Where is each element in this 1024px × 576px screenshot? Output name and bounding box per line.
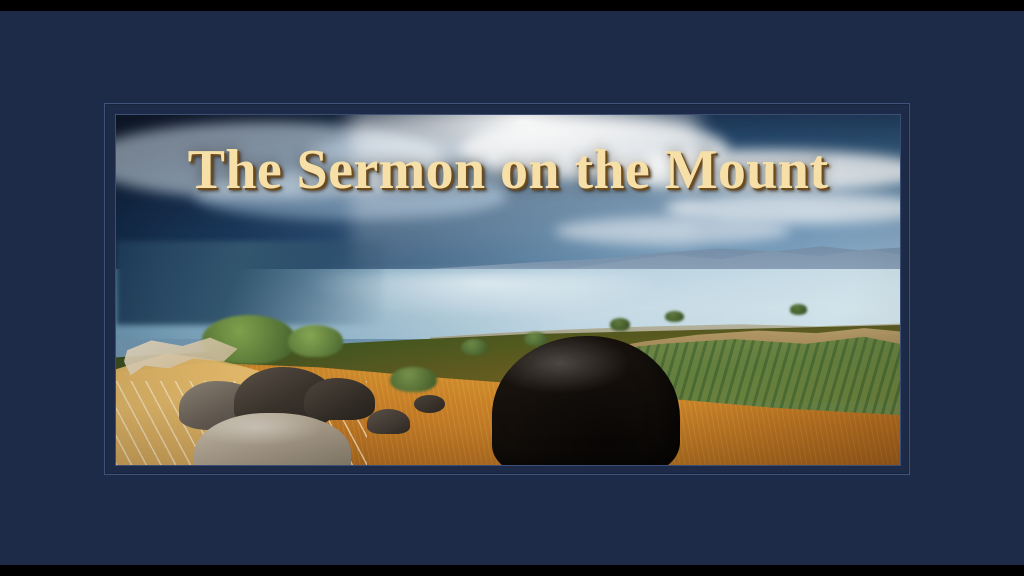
boulder	[367, 409, 410, 434]
boulder	[414, 395, 445, 413]
tree	[610, 318, 630, 331]
slide-viewer: The Sermon on the Mount	[0, 0, 1024, 576]
tree	[288, 325, 343, 357]
letterbox-bar-top	[0, 0, 1024, 11]
tree	[665, 311, 684, 322]
slide-title: The Sermon on the Mount	[116, 142, 900, 198]
cloud-wisp	[555, 217, 790, 245]
tree	[390, 367, 437, 392]
image-frame: The Sermon on the Mount	[104, 103, 910, 475]
water-sun-glint	[304, 273, 665, 319]
presentation-slide: The Sermon on the Mount	[0, 11, 1024, 565]
tree	[790, 304, 807, 315]
image-frame-inner: The Sermon on the Mount	[115, 114, 901, 466]
tree	[461, 339, 488, 355]
letterbox-bar-bottom	[0, 565, 1024, 576]
